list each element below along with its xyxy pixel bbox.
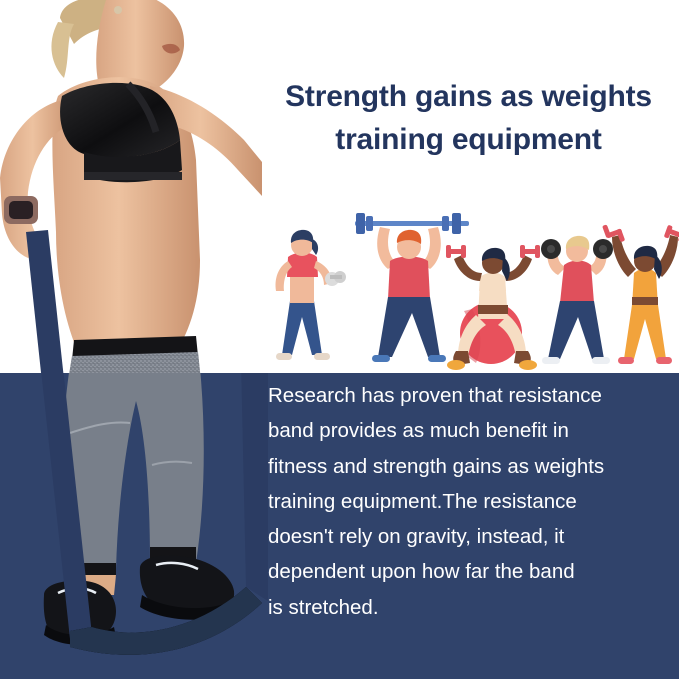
description-line-7: is stretched. — [268, 590, 679, 625]
figure-woman-arms-raised — [602, 224, 679, 364]
dumbbell-right-dark — [593, 239, 613, 259]
bra-band — [84, 172, 182, 180]
dumbbell-small — [325, 271, 346, 286]
headline-line-2: training equipment — [258, 119, 679, 162]
resistance-band-overlay — [0, 373, 268, 679]
figure-woman-dumbbell-curl — [276, 230, 347, 360]
smartwatch — [4, 196, 38, 224]
figure-man-barbell-press — [355, 213, 469, 362]
earring — [114, 6, 122, 14]
exercise-figures-illustration — [262, 205, 679, 375]
product-banner: Strength gains as weights training equip… — [0, 0, 679, 679]
page-title: Strength gains as weights training equip… — [258, 76, 679, 161]
dumbbell-left — [446, 245, 466, 258]
description-line-5: doesn't rely on gravity, instead, it — [268, 519, 679, 554]
dumbbell-left-dark — [541, 239, 561, 259]
figures-svg — [262, 205, 679, 375]
description-text: Research has proven that resistance band… — [268, 378, 679, 625]
figure-man-shoulder-press — [541, 236, 613, 364]
figure-woman-exercise-ball — [446, 245, 540, 370]
description-line-2: band provides as much benefit in — [268, 413, 679, 448]
description-line-1: Research has proven that resistance — [268, 378, 679, 413]
headline-line-1: Strength gains as weights — [258, 76, 679, 119]
description-line-6: dependent upon how far the band — [268, 554, 679, 589]
dumbbell-right — [520, 245, 540, 258]
description-line-4: training equipment.The resistance — [268, 484, 679, 519]
description-line-3: fitness and strength gains as weights — [268, 449, 679, 484]
